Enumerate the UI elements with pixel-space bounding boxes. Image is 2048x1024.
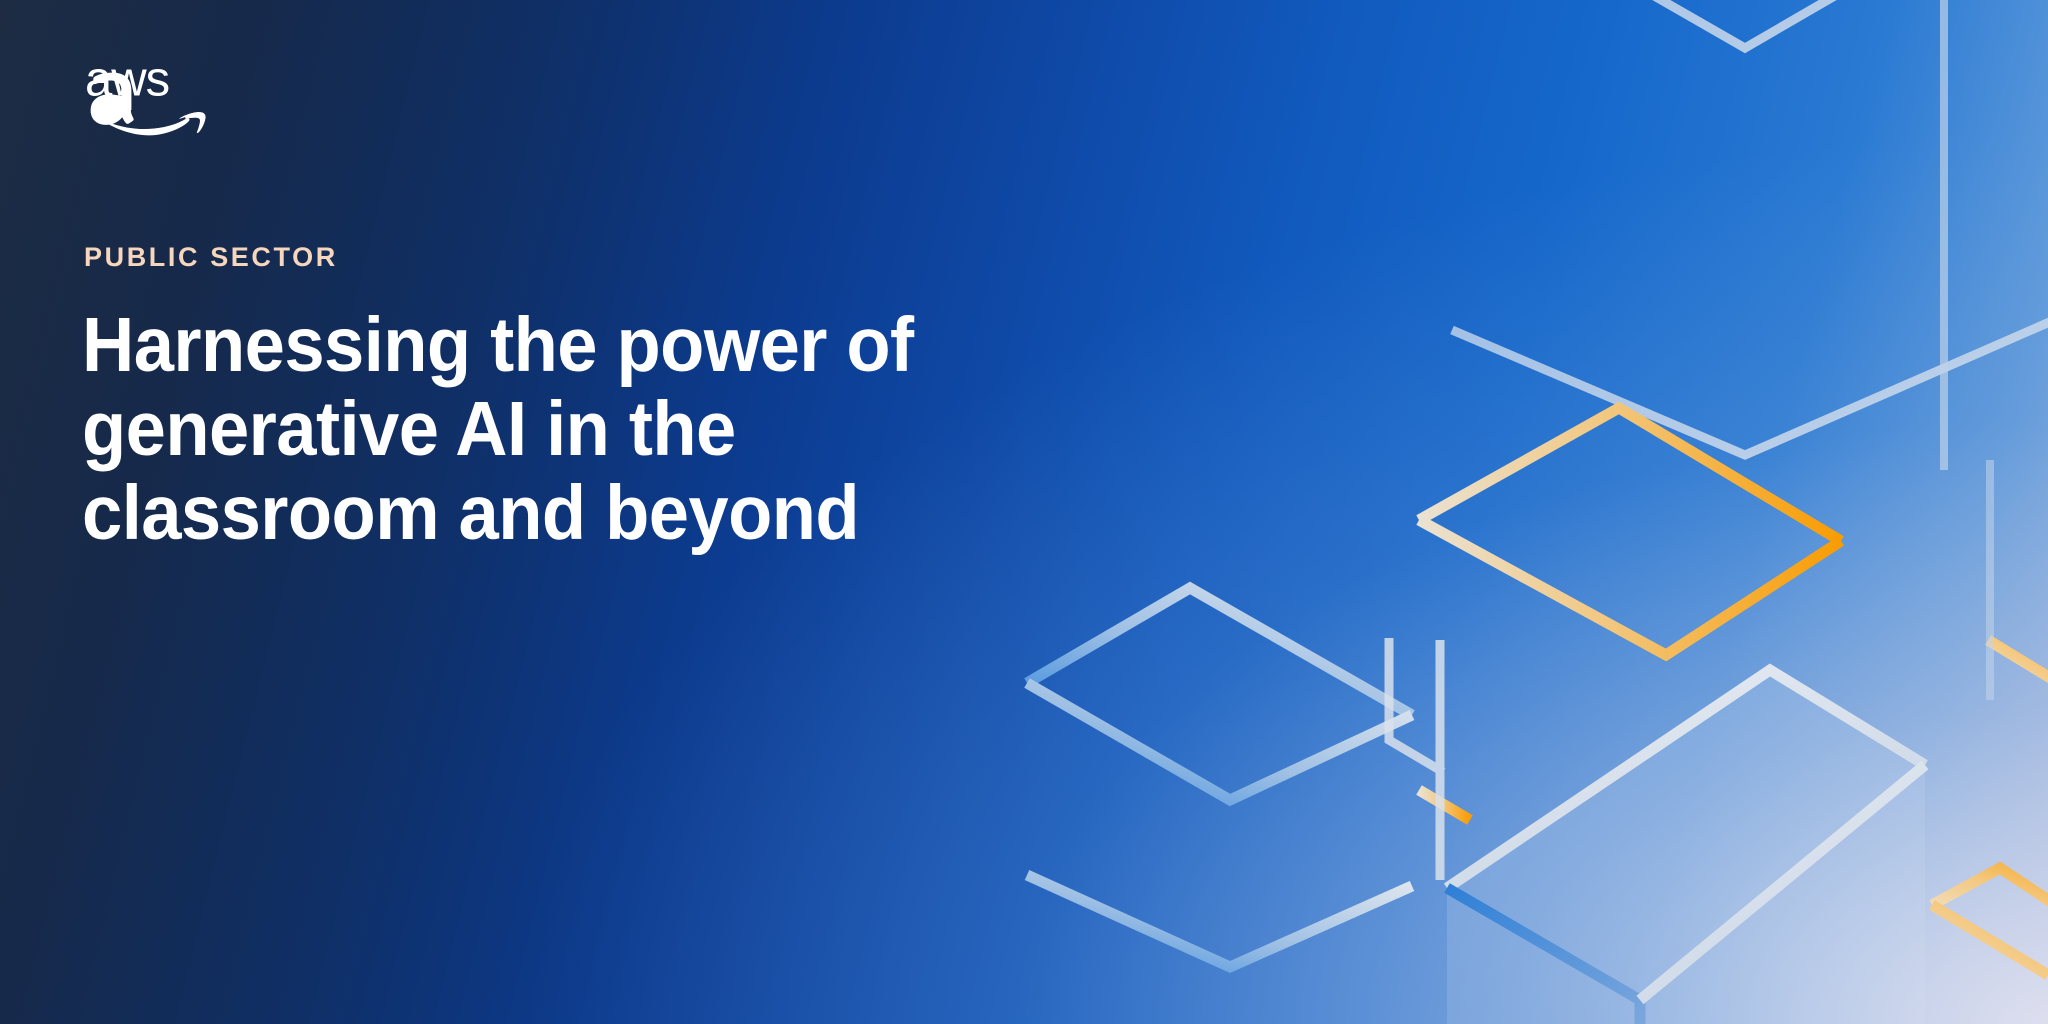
eyebrow-label: PUBLIC SECTOR	[84, 244, 338, 271]
aws-logo[interactable]: aws	[84, 52, 234, 148]
headline-line-3: classroom and beyond	[82, 472, 909, 556]
page-title: Harnessing the power of generative AI in…	[82, 304, 909, 556]
headline-line-1: Harnessing the power of	[82, 304, 909, 388]
headline-line-2: generative AI in the	[82, 388, 909, 472]
aws-logo-text: aws	[85, 53, 169, 107]
aws-public-sector-banner: aws PUBLIC SECTOR Harnessing the power o…	[0, 0, 2048, 1024]
